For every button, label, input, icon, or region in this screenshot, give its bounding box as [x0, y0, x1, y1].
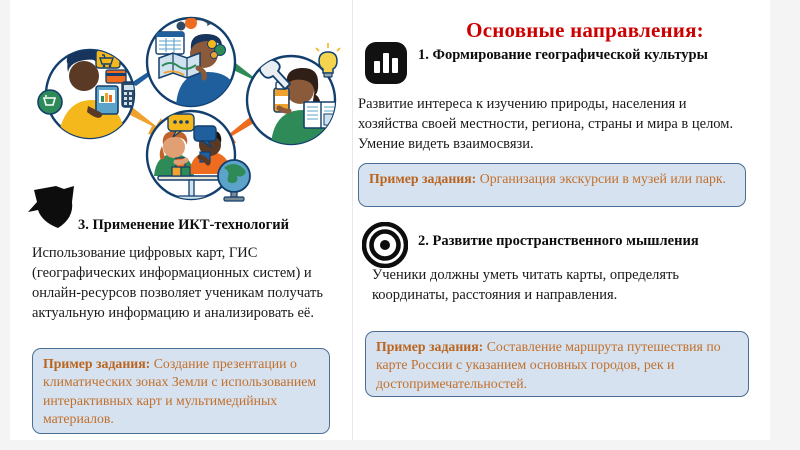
- target-icon: [362, 222, 408, 268]
- bar-chart-icon: [365, 42, 407, 84]
- section-1-heading: 1. Формирование географической культуры: [418, 46, 738, 65]
- circle-collaboration: [147, 111, 250, 201]
- section-2-heading: 2. Развитие пространственного мышления: [418, 232, 748, 251]
- section-3-body: Использование цифровых карт, ГИС (геогра…: [32, 243, 332, 323]
- star-badge-icon: [28, 186, 84, 230]
- four-circles-learning-cycle-illustration: [28, 10, 350, 202]
- globe-icon: [218, 160, 250, 201]
- section-3-example-label: Пример задания:: [43, 356, 150, 371]
- slide-canvas: Основные направления: 1. Формирование ге…: [10, 0, 770, 440]
- section-1-example-label: Пример задания:: [369, 171, 476, 186]
- section-1-body: Развитие интереса к изучению природы, на…: [358, 94, 740, 154]
- section-3-heading: 3. Применение ИКТ-технологий: [78, 216, 358, 235]
- section-2-body: Ученики должны уметь читать карты, опред…: [372, 265, 750, 305]
- section-2-example-box: Пример задания: Составление маршрута пут…: [365, 331, 749, 397]
- section-1-example-text: Организация экскурсии в музей или парк.: [480, 171, 726, 186]
- page-title: Основные направления:: [435, 18, 735, 43]
- circle-timetable: [147, 17, 240, 106]
- circle-shopping: [38, 47, 139, 138]
- section-3-example-box: Пример задания: Создание презентации о к…: [32, 348, 330, 434]
- section-1-example-box: Пример задания: Организация экскурсии в …: [358, 163, 746, 207]
- circle-manual: [247, 43, 340, 144]
- section-2-example-label: Пример задания:: [376, 339, 483, 354]
